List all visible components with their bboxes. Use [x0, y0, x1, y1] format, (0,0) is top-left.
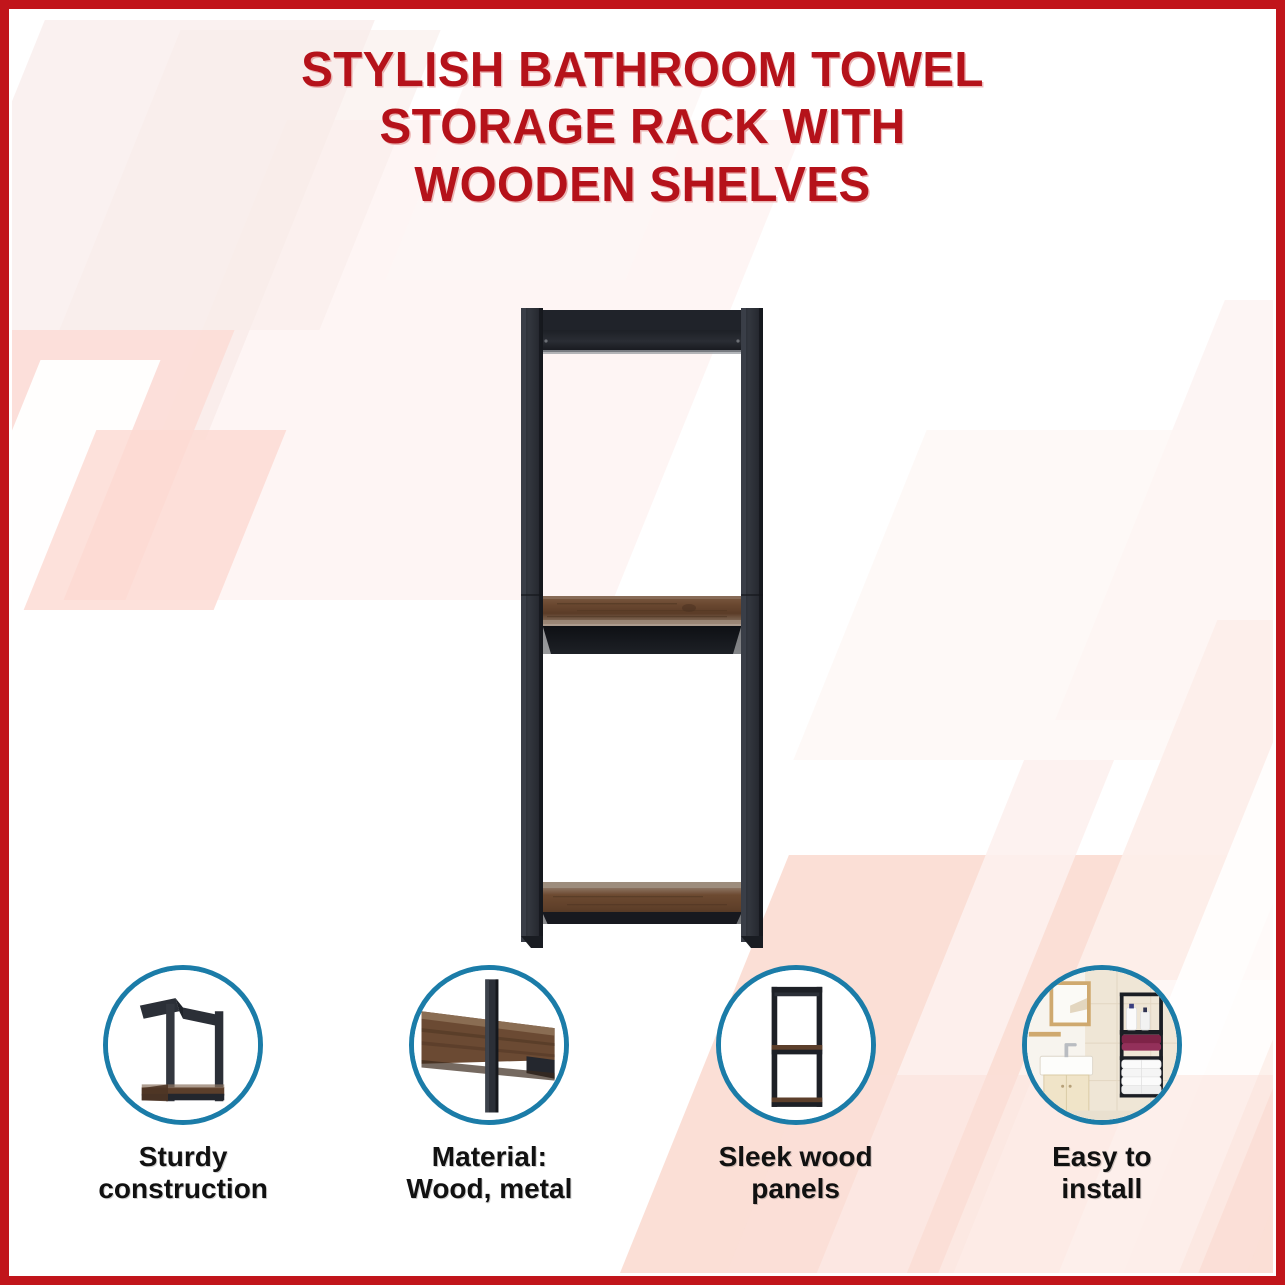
feature-caption-line-1: Sleek wood: [719, 1141, 873, 1173]
feature-caption: Sleek wood panels: [719, 1141, 873, 1204]
frame-closeup-icon: [103, 965, 263, 1125]
feature-item-sleek-wood-panels: Sleek wood panels: [643, 965, 949, 1255]
feature-caption-line-1: Material:: [406, 1141, 572, 1173]
feature-caption-line-1: Easy to: [1052, 1141, 1152, 1173]
hero-product-image: [497, 296, 787, 956]
wooden-bottom-shelf: [543, 882, 741, 936]
wood-shelf-closeup-icon: [409, 965, 569, 1125]
feature-caption: Easy to install: [1052, 1141, 1152, 1204]
page-title-line-2: STORAGE RACK WITH: [165, 99, 1120, 156]
product-infographic: STYLISH BATHROOM TOWEL STORAGE RACK WITH…: [0, 0, 1285, 1285]
bathroom-scene-icon: [1022, 965, 1182, 1125]
feature-item-sturdy-construction: Sturdy construction: [30, 965, 336, 1255]
page-title: STYLISH BATHROOM TOWEL STORAGE RACK WITH…: [0, 42, 1285, 214]
feature-caption-line-2: panels: [719, 1173, 873, 1205]
full-rack-icon: [716, 965, 876, 1125]
page-title-line-3: WOODEN SHELVES: [165, 157, 1120, 214]
feature-caption-line-2: install: [1052, 1173, 1152, 1205]
feature-caption-line-2: Wood, metal: [406, 1173, 572, 1205]
metal-left-post: [521, 308, 543, 948]
feature-caption: Material: Wood, metal: [406, 1141, 572, 1204]
metal-right-post: [741, 308, 763, 948]
metal-top-rail: [527, 310, 757, 354]
feature-list: Sturdy construction: [30, 965, 1255, 1255]
feature-caption: Sturdy construction: [98, 1141, 268, 1204]
page-title-line-1: STYLISH BATHROOM TOWEL: [165, 42, 1120, 99]
feature-item-material: Material: Wood, metal: [336, 965, 642, 1255]
feature-caption-line-2: construction: [98, 1173, 268, 1205]
feature-item-easy-to-install: Easy to install: [949, 965, 1255, 1255]
wooden-middle-shelf: [543, 596, 741, 654]
feature-caption-line-1: Sturdy: [98, 1141, 268, 1173]
